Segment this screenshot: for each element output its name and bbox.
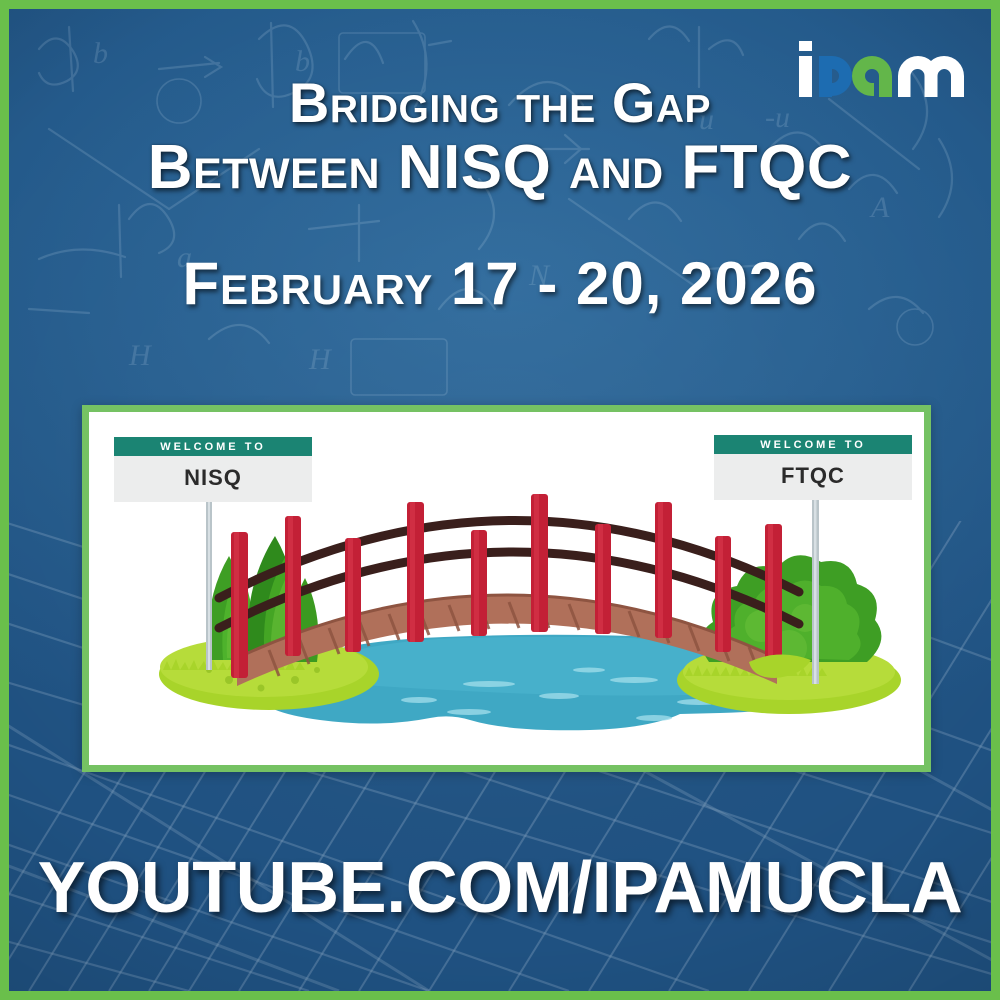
title-line-2: Between NISQ and FTQC [9,137,991,199]
sign-nisq-place-label: NISQ [114,456,312,502]
event-poster: b b H H u -u A N a [0,0,1000,1000]
sign-nisq: WELCOME TO NISQ [114,437,312,502]
sign-ftqc: WELCOME TO FTQC [714,435,912,500]
youtube-url[interactable]: YOUTUBE.COM/IPAMUCLA [9,847,991,929]
bridge-illustration-card: WELCOME TO NISQ WELCOME TO FTQC [82,405,931,772]
sign-ftqc-welcome-label: WELCOME TO [714,435,912,454]
page-title: Bridging the Gap Between NISQ and FTQC [9,75,991,199]
event-dates: February 17 - 20, 2026 [9,249,991,318]
sign-ftqc-place-label: FTQC [714,454,912,500]
sign-nisq-welcome-label: WELCOME TO [114,437,312,456]
title-line-1: Bridging the Gap [9,75,991,131]
